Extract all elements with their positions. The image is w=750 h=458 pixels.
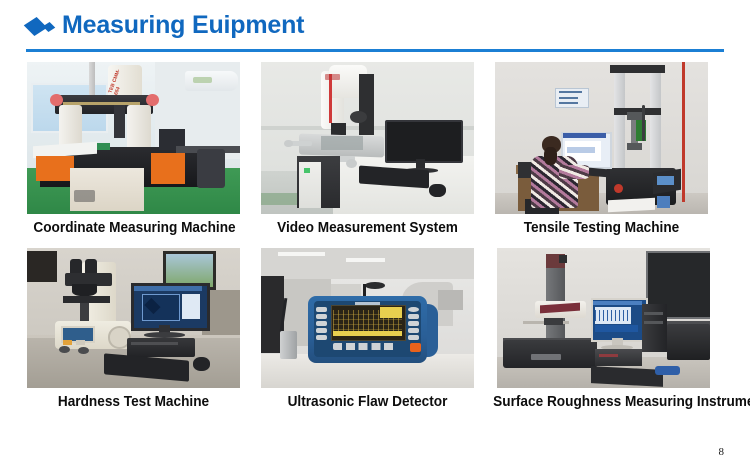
equipment-card: Video Measurement System: [261, 62, 474, 240]
caption-text: Coordinate Measuring Machine: [33, 220, 233, 236]
ultrasonic-probe: [280, 331, 297, 359]
ultrasonic-flaw-detector-photo: [261, 248, 474, 388]
slide-header: Measuring Euipment: [0, 0, 750, 55]
caption-text: Ultrasonic Flaw Detector: [267, 394, 467, 410]
caption-text: Surface Roughness Measuring Instrument: [493, 394, 718, 410]
caption-text: Tensile Testing Machine: [501, 220, 701, 236]
equipment-card: TEB CMM-654 Coordinate Measuring Machine: [27, 62, 240, 240]
page-number: 8: [719, 446, 725, 458]
equipment-card: Surface Roughness Measuring Instrument: [495, 248, 725, 418]
double-diamond-icon: [28, 19, 58, 37]
caption-text: Video Measurement System: [267, 220, 467, 236]
diamond-small-shape: [43, 22, 56, 32]
operator-figure: [531, 156, 578, 208]
page-title: Measuring Euipment: [62, 11, 304, 40]
hardness-test-machine-photo: [27, 248, 240, 388]
title-underline-rule: [26, 49, 724, 52]
equipment-card: Ultrasonic Flaw Detector: [261, 248, 474, 418]
coordinate-measuring-machine-photo: TEB CMM-654: [27, 62, 240, 214]
equipment-card: Hardness Test Machine: [27, 248, 240, 418]
equipment-card: Tensile Testing Machine: [495, 62, 708, 240]
caption-text: Hardness Test Machine: [33, 394, 233, 410]
video-measurement-system-photo: [261, 62, 474, 214]
tensile-testing-machine-photo: [495, 62, 708, 214]
equipment-grid: TEB CMM-654 Coordinate Measuring Machine: [0, 55, 750, 422]
surface-roughness-measuring-instrument-photo: [497, 248, 710, 388]
